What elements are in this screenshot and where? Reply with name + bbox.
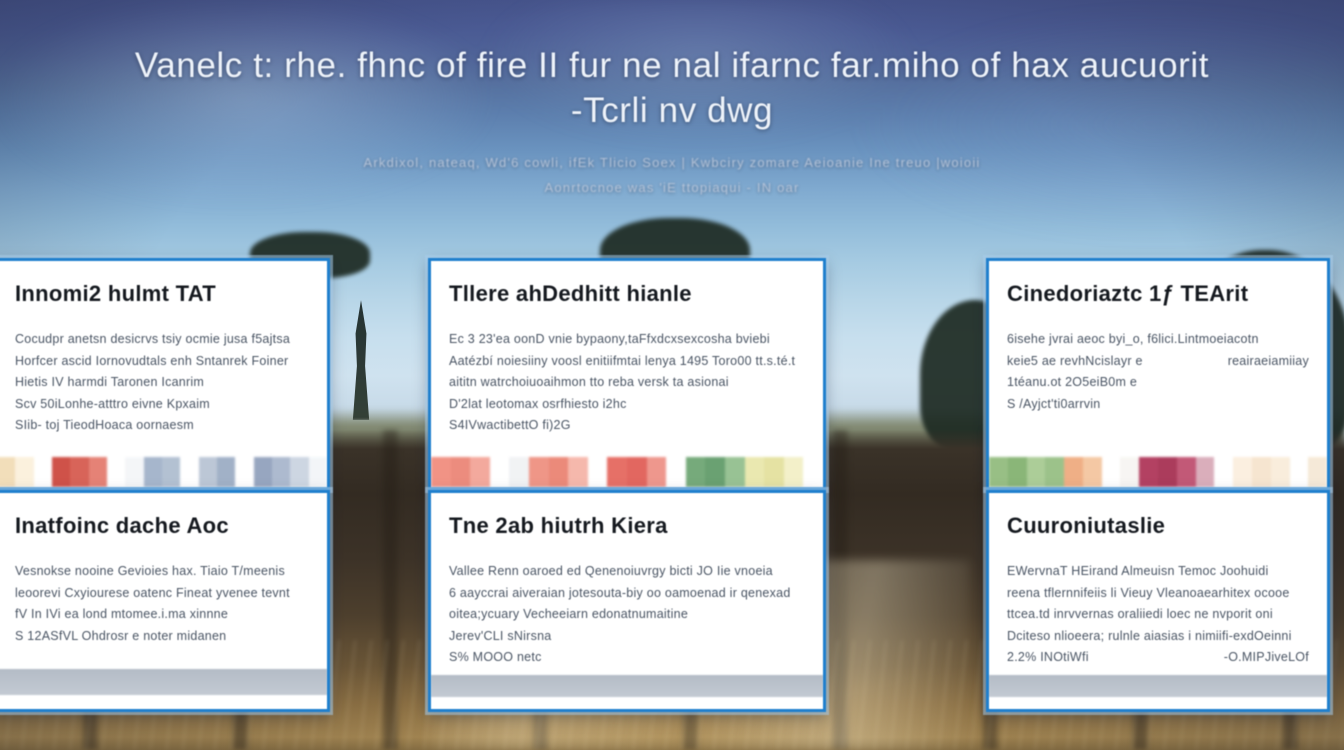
card-line-left: 2.2% INOtiWfi xyxy=(1007,647,1089,669)
card-line: 6 aayccrai aiveraian jotesouta-biy oo oa… xyxy=(449,583,805,605)
card-line: SIib- toj TieodHoaca oornaesm xyxy=(15,415,309,437)
card-tllere-ahdedhitt-hianle[interactable]: Tllere ahDedhitt hianle Ec 3 23'ea oonD … xyxy=(428,258,826,490)
color-swatch xyxy=(1290,457,1309,487)
color-swatch xyxy=(529,457,549,487)
color-swatch xyxy=(1045,457,1064,487)
color-swatch xyxy=(309,457,327,487)
color-swatch xyxy=(627,457,647,487)
card-line: 6isehe jvrai aeoc byi_o, f6lici.Lintmoei… xyxy=(1007,329,1309,351)
color-swatch xyxy=(15,457,33,487)
card-inatfoinc-dache-aoc[interactable]: Inatfoinc dache Aoc Vesnokse nooine Gevi… xyxy=(0,490,330,712)
card-grid: Innomi2 hulmt TAT Cocudpr anetsn desicrv… xyxy=(0,258,1344,750)
color-swatch xyxy=(1308,457,1327,487)
color-swatch xyxy=(764,457,784,487)
color-swatch xyxy=(1158,457,1177,487)
card-body: Cinedoriaztc 1ƒ TEArit 6isehe jvrai aeoc… xyxy=(989,261,1327,457)
card-title: Tllere ahDedhitt hianle xyxy=(449,281,805,307)
card-title: Cinedoriaztc 1ƒ TEArit xyxy=(1007,281,1309,307)
card-title: Innomi2 hulmt TAT xyxy=(15,281,309,307)
card-line: 2.2% INOtiWfi -O.MIPJiveLOf xyxy=(1007,647,1309,669)
card-color-swatch-strip xyxy=(431,457,823,487)
card-line: ttcea.td inrvvernas oraliiedi loec ne nv… xyxy=(1007,604,1309,626)
card-innomi2-hulmt-tat[interactable]: Innomi2 hulmt TAT Cocudpr anetsn desicrv… xyxy=(0,258,330,490)
card-line: Vesnokse nooine Gevioies hax. Tiaio T/me… xyxy=(15,561,309,583)
card-line: fV In IVi ea lond mtomee.i.ma xinnne xyxy=(15,604,309,626)
card-body: Inatfoinc dache Aoc Vesnokse nooine Gevi… xyxy=(0,493,327,669)
color-swatch xyxy=(1252,457,1271,487)
card-body: Innomi2 hulmt TAT Cocudpr anetsn desicrv… xyxy=(0,261,327,457)
color-swatch xyxy=(162,457,180,487)
card-line: aititn watrchoiuoaihmon tto reba versk t… xyxy=(449,372,805,394)
page-title: Vanelc t: rhe. fhnc of fire II fur ne na… xyxy=(0,44,1344,134)
color-swatch xyxy=(470,457,490,487)
color-swatch xyxy=(70,457,88,487)
card-tne-2ab-hiutrh-kiera[interactable]: Tne 2ab hiutrh Kiera Vallee Renn oaroed … xyxy=(428,490,826,712)
color-swatch xyxy=(290,457,308,487)
card-line: Hietis IV harmdi Taronen Icanrim xyxy=(15,372,309,394)
color-swatch xyxy=(1102,457,1121,487)
hero-header: Vanelc t: rhe. fhnc of fire II fur ne na… xyxy=(0,44,1344,200)
card-line: reena tflernnifeiis li Vieuy Vleanoaearh… xyxy=(1007,583,1309,605)
color-swatch xyxy=(784,457,804,487)
card-footer-pad xyxy=(431,697,823,709)
card-line: EWervnaT HEirand Almeuisn Temoc Joohuidi xyxy=(1007,561,1309,583)
page-title-line-2: -Tcrli nv dwg xyxy=(8,89,1336,134)
color-swatch xyxy=(254,457,272,487)
color-swatch xyxy=(989,457,1008,487)
card-text-block: Vallee Renn oaroed ed Qenenoiuvrgy bicti… xyxy=(449,561,805,669)
color-swatch xyxy=(1083,457,1102,487)
card-footer-pad xyxy=(0,695,327,709)
color-swatch xyxy=(1008,457,1027,487)
color-swatch xyxy=(549,457,569,487)
card-line: S /Ayjct'ti0arrvin xyxy=(1007,394,1309,416)
card-line: S4IVwactibettO fi)2G xyxy=(449,415,805,437)
color-swatch xyxy=(180,457,198,487)
card-footer-pad xyxy=(989,697,1327,709)
color-swatch xyxy=(1139,457,1158,487)
color-swatch xyxy=(686,457,706,487)
card-line: Horfcer ascid Iornovudtals enh Sntanrek … xyxy=(15,351,309,373)
card-title: Tne 2ab hiutrh Kiera xyxy=(449,513,805,539)
color-swatch xyxy=(1027,457,1046,487)
color-swatch xyxy=(107,457,125,487)
card-text-block: 6isehe jvrai aeoc byi_o, f6lici.Lintmoei… xyxy=(1007,329,1309,415)
card-line: S% MOOO netc xyxy=(449,647,805,669)
card-body: Tne 2ab hiutrh Kiera Vallee Renn oaroed … xyxy=(431,493,823,675)
card-text-block: EWervnaT HEirand Almeuisn Temoc Joohuidi… xyxy=(1007,561,1309,669)
color-swatch xyxy=(1064,457,1083,487)
card-title: Cuuroniutaslie xyxy=(1007,513,1309,539)
card-line: S 12ASfVL Ohdrosr e noter midanen xyxy=(15,626,309,648)
card-title: Inatfoinc dache Aoc xyxy=(15,513,309,539)
color-swatch xyxy=(89,457,107,487)
card-line: oitea;ycuary Vecheeiarn edonatnumaitine xyxy=(449,604,805,626)
card-line: leoorevi Cxyiourese oatenc Fineat yvenee… xyxy=(15,583,309,605)
color-swatch xyxy=(509,457,529,487)
color-swatch xyxy=(666,457,686,487)
color-swatch xyxy=(235,457,253,487)
color-swatch xyxy=(217,457,235,487)
color-swatch xyxy=(1233,457,1252,487)
card-color-swatch-strip xyxy=(0,457,327,487)
page-subtitle-line-2: Aonrtocnoe was 'iE ttopiaqui - IN oar xyxy=(0,175,1344,200)
card-line: Jerev'CLI sNirsna xyxy=(449,626,805,648)
color-swatch xyxy=(705,457,725,487)
color-swatch xyxy=(431,457,451,487)
card-line: 1téanu.ot 2O5eiB0m e xyxy=(1007,372,1309,394)
card-footer-strip xyxy=(989,675,1327,697)
card-body: Tllere ahDedhitt hianle Ec 3 23'ea oonD … xyxy=(431,261,823,457)
card-text-block: Cocudpr anetsn desicrvs tsiy ocmie jusa … xyxy=(15,329,309,437)
color-swatch xyxy=(745,457,765,487)
card-line: Dciteso nlioeera; rulnle aiasias i nimii… xyxy=(1007,626,1309,648)
card-line: Ec 3 23'ea oonD vnie bypaony,taFfxdcxsex… xyxy=(449,329,805,351)
card-line: Vallee Renn oaroed ed Qenenoiuvrgy bicti… xyxy=(449,561,805,583)
card-footer-strip xyxy=(431,675,823,697)
page-subtitle: Arkdixol, nateaq, Wd'6 cowli, ifEk Tlici… xyxy=(0,150,1344,201)
card-text-block: Ec 3 23'ea oonD vnie bypaony,taFfxdcxsex… xyxy=(449,329,805,437)
card-line-right: reairaeiamiiay xyxy=(1228,351,1309,373)
card-line: D'2lat leotomax osrfhiesto i2hc xyxy=(449,394,805,416)
page-title-line-1: Vanelc t: rhe. fhnc of fire II fur ne na… xyxy=(135,46,1209,85)
color-swatch xyxy=(144,457,162,487)
color-swatch xyxy=(647,457,667,487)
color-swatch xyxy=(1214,457,1233,487)
card-color-swatch-strip xyxy=(989,457,1327,487)
color-swatch xyxy=(1120,457,1139,487)
color-swatch xyxy=(1196,457,1215,487)
color-swatch xyxy=(1271,457,1290,487)
color-swatch xyxy=(52,457,70,487)
color-swatch xyxy=(451,457,471,487)
color-swatch xyxy=(0,457,15,487)
card-line: keie5 ae revhNcislayr e reairaeiamiiay xyxy=(1007,351,1309,373)
card-footer-strip xyxy=(0,669,327,695)
color-swatch xyxy=(1177,457,1196,487)
color-swatch xyxy=(34,457,52,487)
color-swatch xyxy=(199,457,217,487)
color-swatch xyxy=(803,457,823,487)
card-line: Cocudpr anetsn desicrvs tsiy ocmie jusa … xyxy=(15,329,309,351)
card-body: Cuuroniutaslie EWervnaT HEirand Almeuisn… xyxy=(989,493,1327,675)
card-line: Aatézbí noiesiiny voosl enitiifmtai leny… xyxy=(449,351,805,373)
color-swatch xyxy=(125,457,143,487)
color-swatch xyxy=(607,457,627,487)
card-line: Scv 50iLonhe-atttro eivne Kpxaim xyxy=(15,394,309,416)
color-swatch xyxy=(725,457,745,487)
card-cinedoriaztc-tearit[interactable]: Cinedoriaztc 1ƒ TEArit 6isehe jvrai aeoc… xyxy=(986,258,1330,490)
card-line-right: -O.MIPJiveLOf xyxy=(1224,647,1309,669)
page-subtitle-line-1: Arkdixol, nateaq, Wd'6 cowli, ifEk Tlici… xyxy=(0,150,1344,175)
color-swatch xyxy=(490,457,510,487)
card-text-block: Vesnokse nooine Gevioies hax. Tiaio T/me… xyxy=(15,561,309,647)
color-swatch xyxy=(568,457,588,487)
card-cuuroniutaslie[interactable]: Cuuroniutaslie EWervnaT HEirand Almeuisn… xyxy=(986,490,1330,712)
card-line-left: keie5 ae revhNcislayr e xyxy=(1007,351,1143,373)
color-swatch xyxy=(588,457,608,487)
color-swatch xyxy=(272,457,290,487)
